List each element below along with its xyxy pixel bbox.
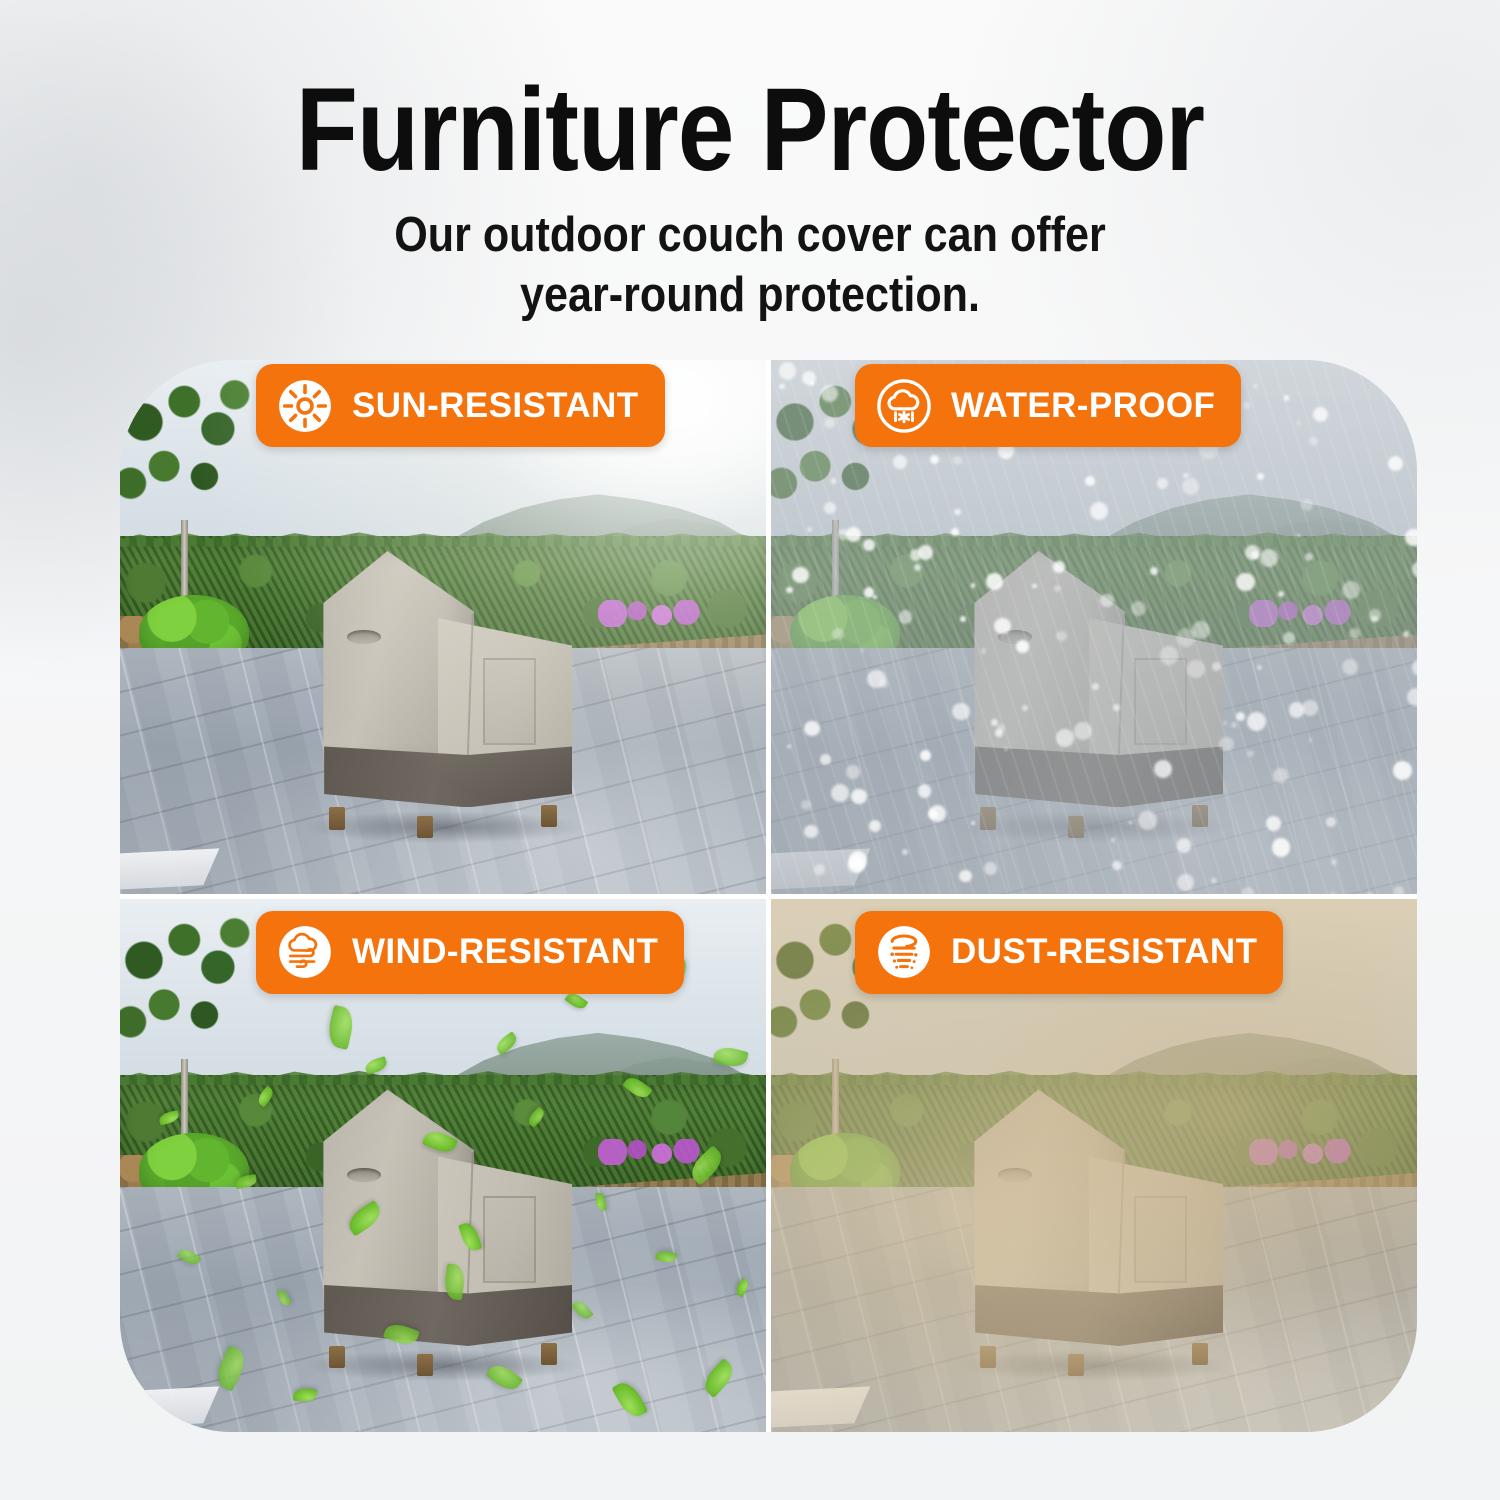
furniture-cover-product: [965, 547, 1223, 824]
furniture-cover-product: [965, 1085, 1223, 1362]
feature-cell-sun-resistant: SUN-RESISTANT: [120, 360, 766, 894]
header: Furniture Protector Our outdoor couch co…: [0, 70, 1500, 326]
badge-label-water-proof: WATER-PROOF: [951, 386, 1215, 426]
feature-cell-dust-resistant: DUST-RESISTANT: [771, 899, 1417, 1433]
furniture-cover-product: [314, 1085, 572, 1362]
badge-label-sun-resistant: SUN-RESISTANT: [352, 386, 639, 426]
badge-sun-resistant[interactable]: SUN-RESISTANT: [256, 364, 665, 447]
page-title: Furniture Protector: [105, 70, 1395, 190]
furniture-cover-product: [314, 547, 572, 824]
feature-photo-grid: SUN-RESISTANT: [120, 360, 1417, 1432]
sun-icon: [278, 379, 332, 433]
page-subtitle: Our outdoor couch cover can offer year-r…: [90, 206, 1410, 326]
dust-tornado-icon: [877, 925, 931, 979]
feature-cell-wind-resistant: WIND-RESISTANT: [120, 899, 766, 1433]
badge-dust-resistant[interactable]: DUST-RESISTANT: [855, 911, 1283, 994]
badge-wind-resistant[interactable]: WIND-RESISTANT: [256, 911, 684, 994]
badge-label-wind-resistant: WIND-RESISTANT: [352, 932, 658, 972]
badge-water-proof[interactable]: WATER-PROOF: [855, 364, 1241, 447]
cloud-rain-snow-icon: [877, 379, 931, 433]
feature-cell-water-proof: WATER-PROOF: [771, 360, 1417, 894]
wind-cloud-icon: [278, 925, 332, 979]
badge-label-dust-resistant: DUST-RESISTANT: [951, 932, 1257, 972]
